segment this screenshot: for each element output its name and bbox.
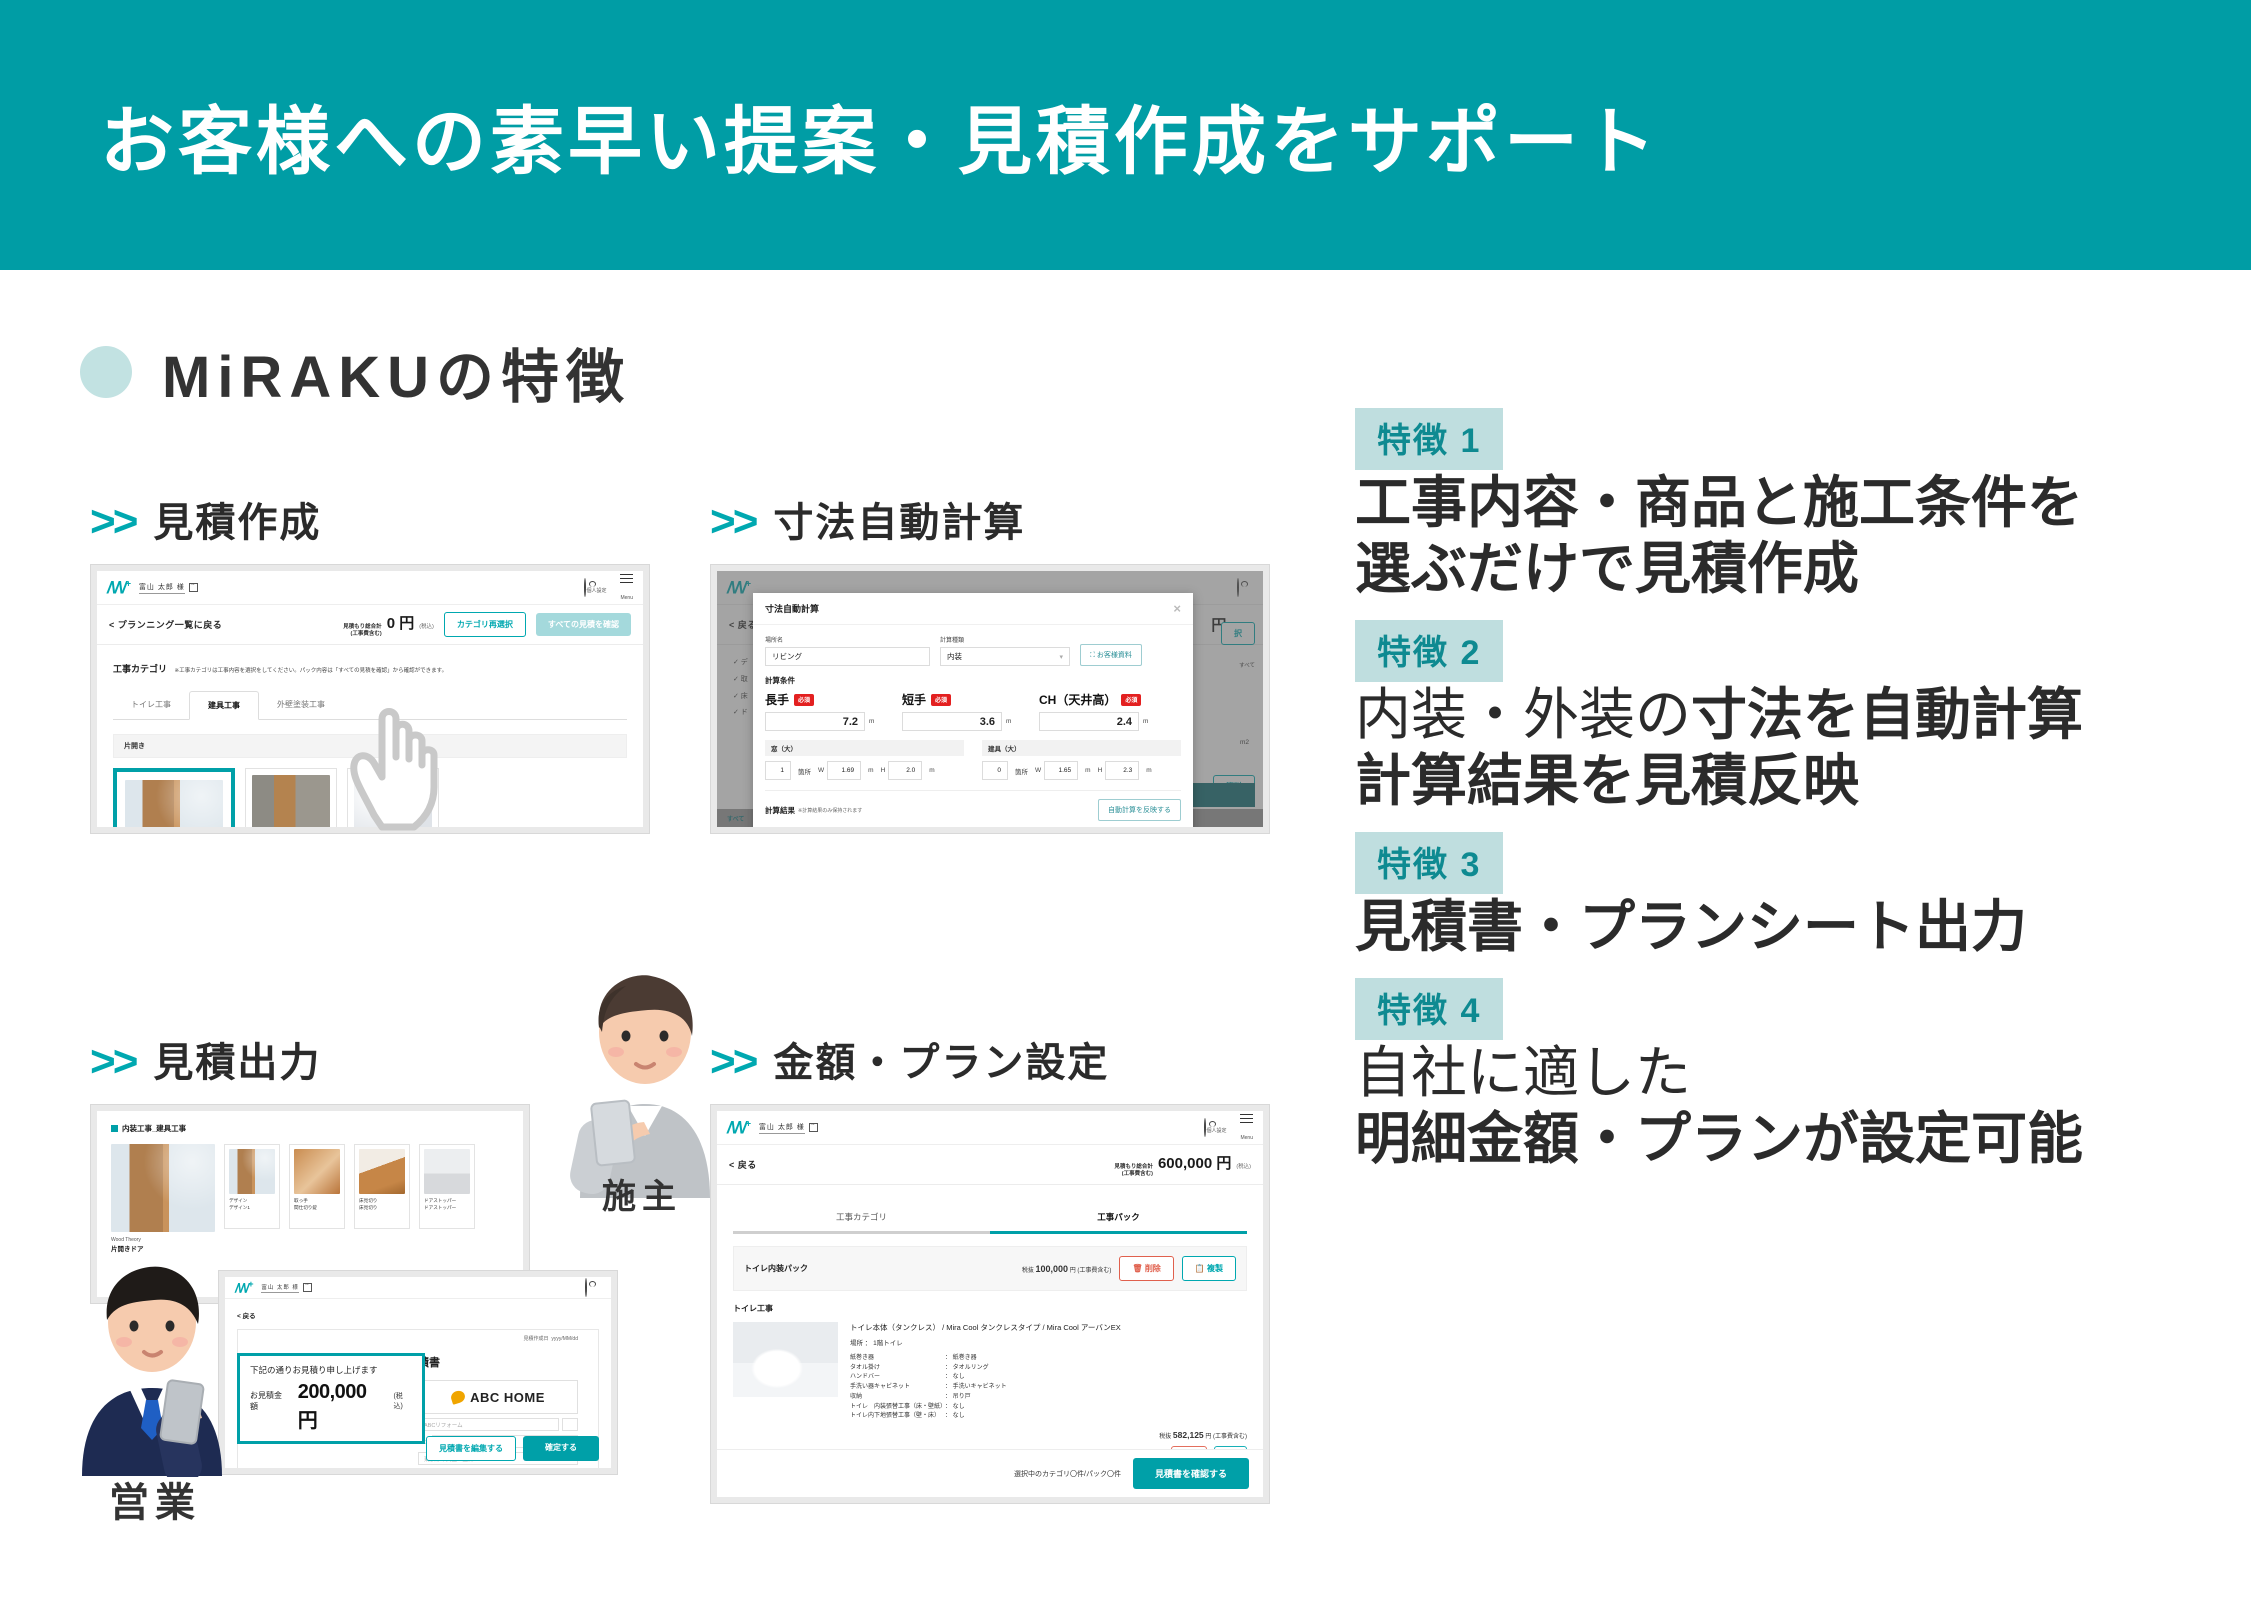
- panel-2-head: >> 寸法自動計算: [710, 490, 1270, 548]
- unit: m: [1146, 767, 1151, 774]
- section-heading: MiRAKUの特徴: [80, 330, 2251, 414]
- dimension-field-long: 長手必須 7.2 m: [765, 691, 888, 731]
- place-name-input[interactable]: リビング: [765, 647, 930, 666]
- fitting-group-label: 建具（大）: [982, 740, 1181, 756]
- w-label: W: [1035, 767, 1041, 774]
- fitting-group: 建具（大） 0 箇所 W 1.65 m H 2.3 m: [982, 740, 1181, 780]
- product-card-selected[interactable]: Wood Theory ピノアース: [113, 768, 235, 827]
- panel-1-head: >> 見積作成: [90, 490, 650, 548]
- item-title-text: トイレ本体（タンクレス） / Mira Cool タンクレスタイプ / Mira…: [850, 1322, 1247, 1333]
- item-detail-row: トイレ本体（タンクレス） / Mira Cool タンクレスタイプ / Mira…: [733, 1322, 1247, 1469]
- quote-document-mock: /\/\/+ 富山 太郎 様 < 戻る 見積作成日 yyyy/MM/dd: [218, 1270, 618, 1475]
- count-unit: 箇所: [798, 766, 811, 776]
- dimension-field-ceiling: CH（天井高）必須 2.4 m: [1039, 691, 1169, 731]
- sheet-header: 内装工事_建具工事: [111, 1123, 509, 1134]
- sheet-items: Wood Theory 片開きドア デザイン デザイン1 取っ手: [111, 1144, 509, 1253]
- required-badge: 必須: [931, 694, 951, 706]
- reflect-autocalc-button[interactable]: 自動計算を反映する: [1098, 799, 1181, 821]
- spec-row: トイレ内下地張替工事（壁・床）なし: [850, 1412, 1247, 1422]
- chevron-down-icon: ▾: [1059, 653, 1063, 661]
- unit: m: [868, 767, 873, 774]
- confirm-estimate-button[interactable]: 見積書を確認する: [1133, 1458, 1249, 1489]
- quote-amount-intro: 下記の通りお見積り申し上げます: [250, 1364, 412, 1376]
- total-estimate-1: 見積もり総合計 (工事費含む) 0 円 (税込): [343, 612, 434, 637]
- feature-4-line-1: 自社に適した: [1355, 1040, 2235, 1106]
- sales-illustration: 営業: [60, 1262, 250, 1528]
- tab-fitting-work[interactable]: 建具工事: [189, 691, 259, 720]
- copy-pack-button[interactable]: 📋 複製: [1182, 1256, 1236, 1281]
- app-header-1: /\/\/+ 富山 太郎 様 個人設定 Menu: [97, 571, 643, 605]
- quote-amount-tax: (税込): [393, 1391, 412, 1411]
- group-label-single-swing: 片開き: [113, 734, 627, 758]
- browser-mock-1: /\/\/+ 富山 太郎 様 個人設定 Menu: [90, 564, 650, 834]
- auto-dimension-modal: 寸法自動計算 × 場所名 リビング 計算種類 内: [753, 593, 1193, 827]
- quote-amount-value: 200,000円: [298, 1381, 386, 1433]
- panel-4-title: 金額・プラン設定: [773, 1030, 1109, 1088]
- panel-3-title: 見積出力: [153, 1030, 321, 1088]
- feature-1: 特徴 1 工事内容・商品と施工条件を 選ぶだけで見積作成: [1355, 408, 2235, 602]
- window-group-label: 窓（大）: [765, 740, 964, 756]
- panel-price-plan: >> 金額・プラン設定 /\/\/+ 富山 太郎 様 個人設定: [710, 1030, 1270, 1504]
- panel-auto-dimension: >> 寸法自動計算 /\/\/+ < 戻る: [710, 490, 1270, 834]
- sales-figure-icon: [60, 1262, 250, 1477]
- main-item-name: 片開きドア: [111, 1243, 215, 1253]
- fitting-h-input[interactable]: 2.3: [1105, 761, 1139, 780]
- option-text: 取っ手 間仕切り錠: [294, 1198, 340, 1212]
- confirm-quote-button[interactable]: 確定する: [523, 1436, 599, 1461]
- category-heading-row: 工事カテゴリ ※工事カテゴリは工事内容を選択をしてください。パック内容は「すべて…: [113, 659, 627, 677]
- toolbar-1: < プランニング一覧に戻る 見積もり総合計 (工事費含む) 0 円 (税込) カ…: [97, 605, 643, 645]
- quote-amount-label: お見積金額: [250, 1390, 290, 1412]
- dim-unit: m: [869, 718, 874, 725]
- dimension-inputs: 長手必須 7.2 m 短手必須 3.6 m: [765, 691, 1181, 731]
- spec-row: トイレ 内装張替工事（床・壁紙）なし: [850, 1403, 1247, 1413]
- menu-button[interactable]: Menu: [1240, 1111, 1253, 1143]
- modal-body: 場所名 リビング 計算種類 内装 ▾ ⛶ お客様資料: [753, 625, 1193, 827]
- feature-2-line-2: 計算結果を見積反映: [1355, 748, 2235, 814]
- feature-2-line-1-head: 内装・外装の: [1355, 683, 1691, 746]
- company-name-input[interactable]: ABCリフォーム: [418, 1418, 559, 1431]
- edit-quote-button[interactable]: 見積書を編集する: [426, 1436, 516, 1461]
- total-label-line1: 見積もり総合計: [343, 624, 382, 630]
- product-card-list: Wood Theory ピノアース ood バリテェス Simple Home: [113, 768, 627, 827]
- option-thumbnail: [424, 1149, 470, 1194]
- h-label: H: [1098, 767, 1103, 774]
- fitting-count-input[interactable]: 0: [982, 761, 1008, 780]
- category-heading: 工事カテゴリ: [113, 664, 167, 674]
- app-header-3: /\/\/+ 富山 太郎 様: [225, 1277, 611, 1299]
- total-amount-1: 0 円: [387, 612, 415, 633]
- feature-2-line-1: 内装・外装の寸法を自動計算: [1355, 682, 2235, 748]
- dim-label: 長手必須: [765, 691, 888, 708]
- calc-type-field: 計算種類 内装 ▾: [940, 635, 1070, 666]
- account-settings-button[interactable]: 個人設定: [584, 579, 606, 597]
- option-text: ドアストッパー ドアストッパー: [424, 1198, 470, 1212]
- required-badge: 必須: [794, 694, 814, 706]
- count-unit: 箇所: [1015, 766, 1028, 776]
- result-label: 計算結果: [765, 805, 795, 816]
- option-thumbnail: [359, 1149, 405, 1194]
- toilet-thumbnail: [733, 1322, 838, 1397]
- sheet-main-item: Wood Theory 片開きドア: [111, 1144, 215, 1253]
- h-label: H: [881, 767, 886, 774]
- app-header-4: /\/\/+ 富山 太郎 様 個人設定 Menu: [717, 1111, 1263, 1145]
- total-label-line2: (工事費含む): [351, 631, 382, 637]
- selection-count-note: 選択中のカテゴリ〇件/パック〇件: [1014, 1469, 1121, 1479]
- account-settings-button[interactable]: 個人設定: [1204, 1119, 1226, 1137]
- bullet-dot-icon: [80, 346, 132, 398]
- dim-input[interactable]: 7.2: [765, 712, 865, 731]
- back-to-planning-list[interactable]: < プランニング一覧に戻る: [109, 618, 222, 631]
- plan-tabs: 工事カテゴリ 工事パック: [733, 1203, 1247, 1234]
- item-section-title: トイレ工事: [733, 1303, 1247, 1314]
- item-detail-text: トイレ本体（タンクレス） / Mira Cool タンクレスタイプ / Mira…: [850, 1322, 1247, 1469]
- product-thumbnail: [252, 775, 330, 827]
- company-logo-icon: [450, 1389, 467, 1405]
- total-tax-4: (税込): [1236, 1162, 1251, 1170]
- company-brand: ABC HOME: [470, 1390, 545, 1405]
- pack-row: トイレ内装パック 税抜 100,000 円 (工事費含む) 🗑 削除 📋 複製: [733, 1246, 1247, 1291]
- option-card: 取っ手 間仕切り錠: [289, 1144, 345, 1229]
- option-text: デザイン デザイン1: [229, 1198, 275, 1212]
- menu-label: Menu: [1240, 1135, 1253, 1141]
- product-card[interactable]: Simple Home: [347, 768, 439, 827]
- user-name-3: 富山 太郎 様: [261, 1283, 299, 1293]
- chevron-icon: >>: [710, 1040, 755, 1084]
- quote-actions: 見積書を編集する 確定する: [426, 1436, 599, 1461]
- calc-type-value: 内装: [947, 651, 962, 662]
- browser-mock-4: /\/\/+ 富山 太郎 様 個人設定 Menu: [710, 1104, 1270, 1504]
- option-card: デザイン デザイン1: [224, 1144, 280, 1229]
- feature-1-line-1: 工事内容・商品と施工条件を: [1355, 470, 2235, 536]
- result-header-row: 計算結果 ※計算結果のみ保持されます 自動計算を反映する: [765, 790, 1181, 821]
- window-w-input[interactable]: 1.69: [827, 761, 861, 780]
- w-label: W: [818, 767, 824, 774]
- item-total: 税抜 582,125 円 (工事費含む): [850, 1430, 1247, 1440]
- calc-condition-label: 計算条件: [765, 675, 1181, 686]
- total-label-line1: 見積もり総合計: [1114, 1164, 1153, 1170]
- chevron-icon: >>: [710, 500, 755, 544]
- place-name-label: 場所名: [765, 635, 930, 644]
- tab-construction-category[interactable]: 工事カテゴリ: [733, 1203, 990, 1234]
- panel-4-footer: 選択中のカテゴリ〇件/パック〇件 見積書を確認する: [717, 1449, 1263, 1497]
- miraku-logo: /\/\/+: [107, 579, 130, 596]
- tab-toilet-work[interactable]: トイレ工事: [113, 691, 189, 719]
- unit: m: [1085, 767, 1090, 774]
- menu-label: Menu: [620, 595, 633, 601]
- logout-icon[interactable]: [189, 583, 198, 592]
- spec-row: タオル掛けタオルリング: [850, 1364, 1247, 1374]
- account-label: 個人設定: [1206, 1128, 1226, 1134]
- panel-1-title: 見積作成: [153, 490, 321, 548]
- feature-1-line-2: 選ぶだけで見積作成: [1355, 536, 2235, 602]
- company-extra-input[interactable]: [562, 1418, 578, 1431]
- logout-icon[interactable]: [303, 1283, 312, 1292]
- item-place: 場所 ： 1階トイレ: [850, 1337, 1247, 1347]
- features-column: 特徴 1 工事内容・商品と施工条件を 選ぶだけで見積作成 特徴 2 内装・外装の…: [1355, 408, 2235, 1191]
- dim-input[interactable]: 2.4: [1039, 712, 1139, 731]
- place-name-field: 場所名 リビング: [765, 635, 930, 666]
- panel-2-title: 寸法自動計算: [773, 490, 1025, 548]
- dim-label: 短手必須: [902, 691, 1025, 708]
- product-card[interactable]: ood バリテェス: [245, 768, 337, 827]
- option-thumbnail: [294, 1149, 340, 1194]
- back-button-4[interactable]: < 戻る: [729, 1158, 757, 1171]
- feature-2-badge: 特徴 2: [1355, 620, 1503, 682]
- panel-quote-creation: >> 見積作成 /\/\/+ 富山 太郎 様 個人設定: [90, 490, 650, 834]
- feature-1-badge: 特徴 1: [1355, 408, 1503, 470]
- spec-row: ハンドバーなし: [850, 1373, 1247, 1383]
- panel-4-head: >> 金額・プラン設定: [710, 1030, 1270, 1088]
- modal-header: 寸法自動計算 ×: [753, 593, 1193, 625]
- recategory-button[interactable]: カテゴリ再選択: [444, 612, 526, 637]
- feature-4: 特徴 4 自社に適した 明細金額・プランが設定可能: [1355, 978, 2235, 1172]
- user-name-1: 富山 太郎 様: [139, 582, 185, 594]
- company-brand-box: ABC HOME: [418, 1380, 578, 1414]
- account-settings-button[interactable]: [585, 1279, 587, 1297]
- user-name-4: 富山 太郎 様: [759, 1122, 805, 1134]
- spec-row: 収納吊り戸: [850, 1393, 1247, 1403]
- category-note: ※工事カテゴリは工事内容を選択をしてください。パック内容は「すべての見積を確認」…: [174, 668, 447, 674]
- pack-name: トイレ内装パック: [744, 1263, 808, 1274]
- result-note: ※計算結果のみ保持されます: [798, 807, 862, 814]
- window-h-input[interactable]: 2.0: [888, 761, 922, 780]
- opening-groups: 窓（大） 1 箇所 W 1.69 m H 2.0 m: [765, 740, 1181, 780]
- main-item-thumbnail: [111, 1144, 215, 1232]
- feature-4-line-2: 明細金額・プランが設定可能: [1355, 1106, 2235, 1172]
- miraku-logo: /\/\/+: [727, 1119, 750, 1136]
- spec-list: 紙巻き器紙巻き器 タオル掛けタオルリング ハンドバーなし 手洗い器キャビネット手…: [850, 1354, 1247, 1422]
- option-card: 床見切り 床見切り: [354, 1144, 410, 1229]
- sheet-bullet-icon: [111, 1125, 118, 1132]
- panel-quote-output: >> 見積出力 内装工事_建具工事 Wood Theory 片開きドア: [90, 1030, 710, 1304]
- dim-label: CH（天井高）必須: [1039, 691, 1169, 708]
- dim-unit: m: [1143, 718, 1148, 725]
- account-label: 個人設定: [586, 588, 606, 594]
- sheet-header-text: 内装工事_建具工事: [122, 1123, 186, 1134]
- total-tax-1: (税込): [419, 622, 434, 630]
- spec-row: 手洗い器キャビネット手洗いキャビネット: [850, 1383, 1247, 1393]
- banner-title: お客様への素早い提案・見積作成をサポート: [100, 82, 1660, 189]
- dim-unit: m: [1006, 718, 1011, 725]
- logout-icon[interactable]: [809, 1123, 818, 1132]
- tab-exterior-paint-work[interactable]: 外壁塗装工事: [259, 691, 343, 719]
- dimension-field-short: 短手必須 3.6 m: [902, 691, 1025, 731]
- all-quotes-button[interactable]: すべての見積を確認: [536, 613, 631, 636]
- section-title: MiRAKUの特徴: [162, 330, 631, 414]
- feature-3: 特徴 3 見積書・プランシート出力: [1355, 832, 2235, 960]
- account-icon: [585, 1278, 587, 1297]
- option-thumbnail: [229, 1149, 275, 1194]
- calc-type-select[interactable]: 内装 ▾: [940, 647, 1070, 666]
- quote-back-row: < 戻る: [225, 1299, 611, 1329]
- toolbar-4: < 戻る 見積もり総合計 (工事費含む) 600,000 円 (税込): [717, 1145, 1263, 1185]
- panel-4-content: 工事カテゴリ 工事パック トイレ内装パック 税抜 100,000 円 (工事費含…: [717, 1185, 1263, 1477]
- window-count-input[interactable]: 1: [765, 761, 791, 780]
- pack-price: 税抜 100,000 円 (工事費含む): [1022, 1264, 1112, 1274]
- total-estimate-4: 見積もり総合計 (工事費含む) 600,000 円 (税込): [1114, 1152, 1251, 1177]
- feature-2: 特徴 2 内装・外装の寸法を自動計算 計算結果を見積反映: [1355, 620, 2235, 814]
- calc-type-label: 計算種類: [940, 635, 1070, 644]
- customer-doc-button[interactable]: ⛶ お客様資料: [1080, 644, 1142, 666]
- category-tabs: トイレ工事 建具工事 外壁塗装工事: [113, 691, 627, 720]
- feature-3-badge: 特徴 3: [1355, 832, 1503, 894]
- product-thumbnail: [354, 775, 432, 827]
- total-label-line2: (工事費含む): [1122, 1171, 1153, 1177]
- hamburger-icon: [620, 574, 633, 584]
- spec-row: 紙巻き器紙巻き器: [850, 1354, 1247, 1364]
- hamburger-icon: [1240, 1114, 1253, 1124]
- feature-4-badge: 特徴 4: [1355, 978, 1503, 1040]
- delete-pack-button[interactable]: 🗑 削除: [1119, 1256, 1173, 1281]
- browser-mock-2: /\/\/+ < 戻る 円 (税込): [710, 564, 1270, 834]
- quote-amount-highlight: 下記の通りお見積り申し上げます お見積金額 200,000円 (税込): [237, 1353, 425, 1444]
- option-card: ドアストッパー ドアストッパー: [419, 1144, 475, 1229]
- total-amount-4: 600,000 円: [1158, 1152, 1231, 1173]
- close-icon[interactable]: ×: [1173, 602, 1181, 615]
- fitting-w-input[interactable]: 1.65: [1044, 761, 1078, 780]
- header-banner: お客様への素早い提案・見積作成をサポート: [0, 0, 2251, 270]
- required-badge: 必須: [1121, 694, 1141, 706]
- product-thumbnail: [125, 780, 223, 827]
- feature-3-line-1: 見積書・プランシート出力: [1355, 894, 2235, 960]
- feature-2-line-1-tail: 寸法を自動計算: [1691, 683, 2083, 746]
- unit: m: [929, 767, 934, 774]
- tab-construction-pack[interactable]: 工事パック: [990, 1203, 1247, 1234]
- quote-created: 見積作成日 yyyy/MM/dd: [248, 1335, 588, 1342]
- chevron-icon: >>: [90, 1040, 135, 1084]
- window-group: 窓（大） 1 箇所 W 1.69 m H 2.0 m: [765, 740, 964, 780]
- sales-caption: 営業: [60, 1470, 250, 1528]
- panel-1-content: 工事カテゴリ ※工事カテゴリは工事内容を選択をしてください。パック内容は「すべて…: [97, 645, 643, 827]
- dim-input[interactable]: 3.6: [902, 712, 1002, 731]
- modal-title: 寸法自動計算: [765, 602, 819, 615]
- menu-button[interactable]: Menu: [620, 571, 633, 603]
- option-text: 床見切り 床見切り: [359, 1198, 405, 1212]
- chevron-icon: >>: [90, 500, 135, 544]
- screenshots-column: >> 見積作成 /\/\/+ 富山 太郎 様 個人設定: [0, 430, 1340, 1605]
